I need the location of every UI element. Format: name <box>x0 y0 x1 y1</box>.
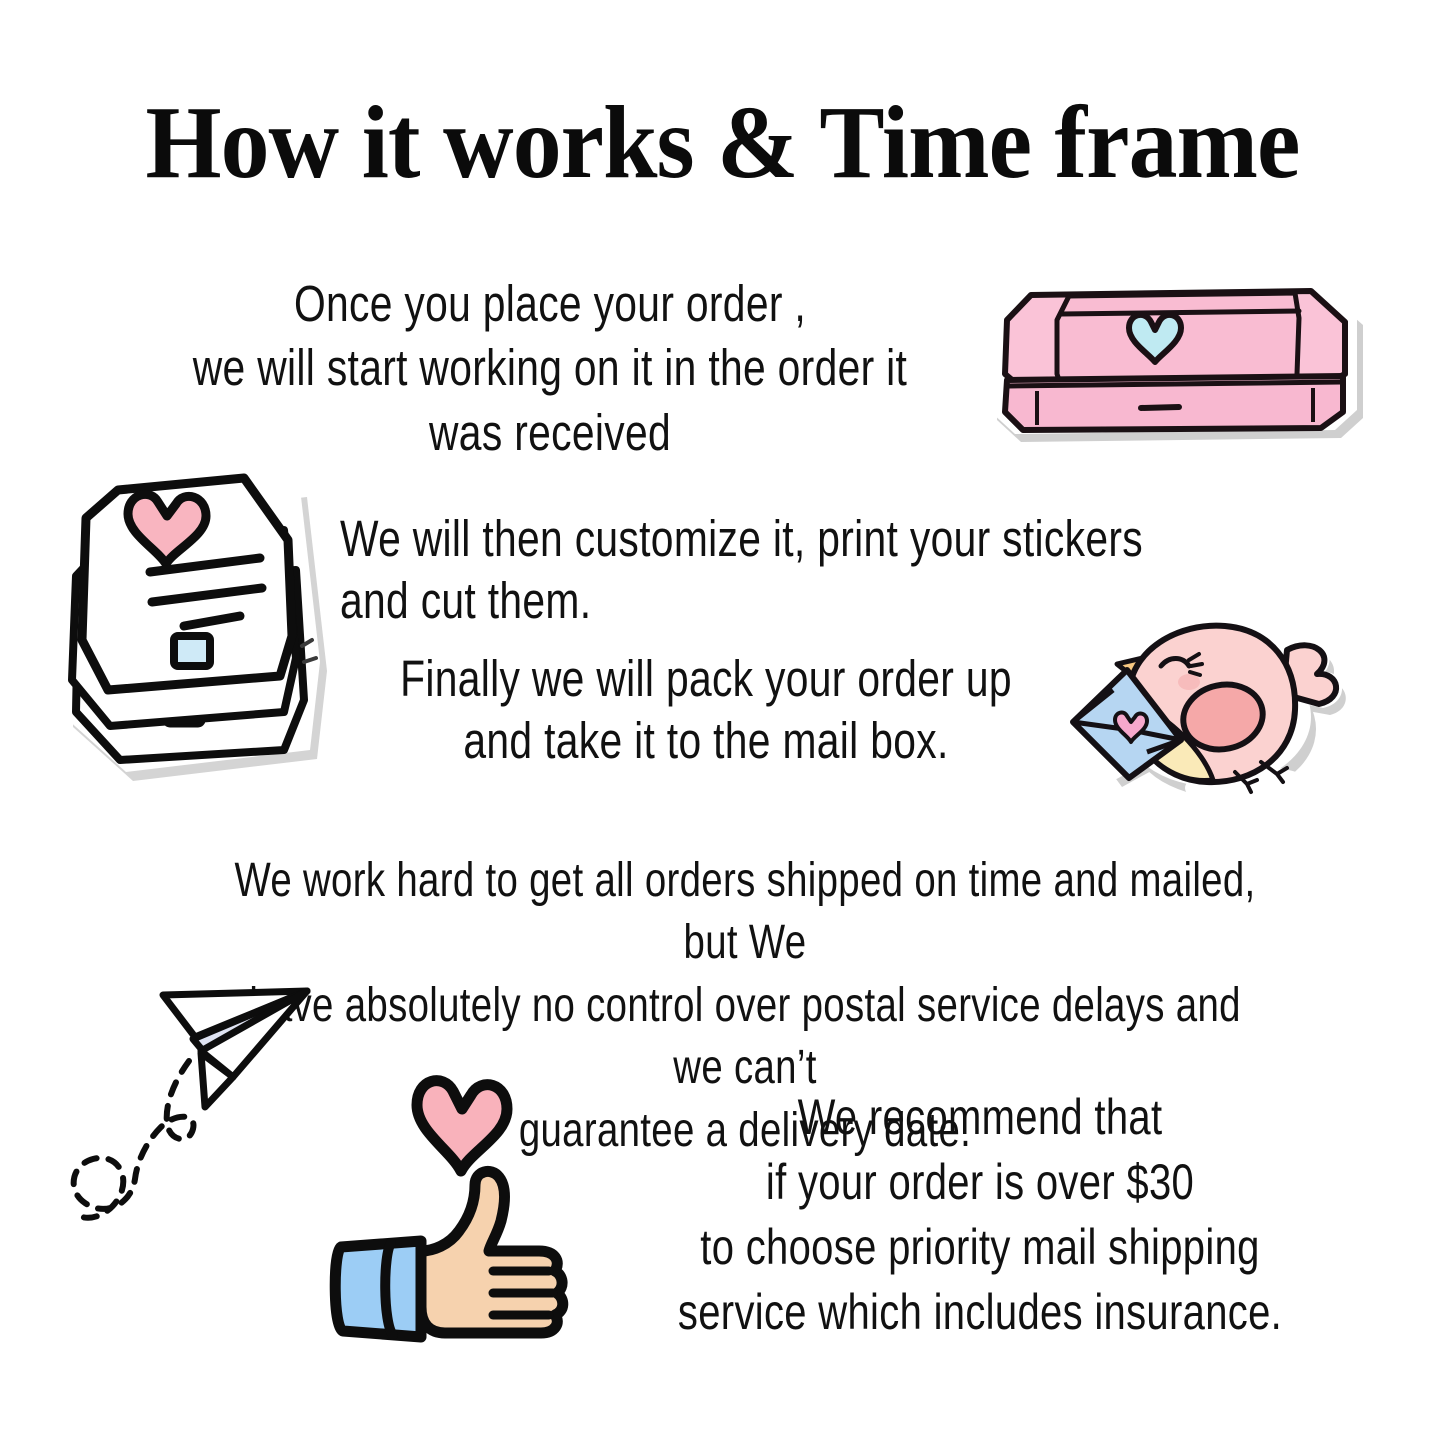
step-pack-and-mail-text: Finally we will pack your order up and t… <box>330 648 1082 772</box>
paper-airplane-icon <box>55 965 335 1250</box>
pink-cutting-machine-icon <box>965 262 1375 452</box>
bird-with-envelope-icon <box>1055 612 1355 832</box>
page-title: How it works & Time frame <box>43 88 1401 197</box>
thumbs-up-heart-icon <box>325 1075 590 1350</box>
step-order-received-text: Once you place your order , we will star… <box>190 272 910 465</box>
flyer-canvas: How it works & Time frame Once you place… <box>0 0 1445 1445</box>
priority-mail-recommendation-text: We recommend that if your order is over … <box>660 1085 1300 1345</box>
stacked-shipping-labels-icon <box>48 450 348 790</box>
step-customize-print-cut-text: We will then customize it, print your st… <box>340 508 1148 632</box>
